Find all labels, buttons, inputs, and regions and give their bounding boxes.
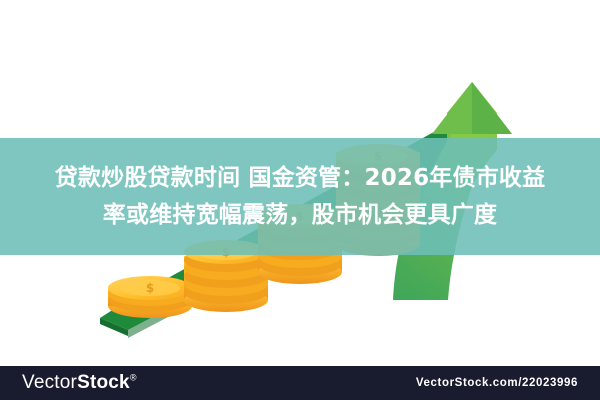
headline-block: 贷款炒股贷款时间 国金资管：2026年债市收益 率或维持宽幅震荡，股市机会更具广… bbox=[0, 138, 600, 255]
screenshot-canvas: $ $ bbox=[0, 0, 600, 400]
logo-word-vector: Vector bbox=[22, 372, 77, 393]
watermark-footer: VectorStock® VectorStock.com/22023996 bbox=[0, 366, 600, 400]
watermark-url: VectorStock.com/22023996 bbox=[416, 377, 578, 389]
headline-line-2: 率或维持宽幅震荡，股市机会更具广度 bbox=[103, 197, 497, 234]
coin-stack-1: $ bbox=[108, 276, 192, 318]
registered-trademark-icon: ® bbox=[130, 373, 137, 383]
svg-text:$: $ bbox=[146, 281, 154, 295]
headline-line-1: 贷款炒股贷款时间 国金资管：2026年债市收益 bbox=[55, 160, 546, 197]
vectorstock-logo: VectorStock® bbox=[22, 372, 137, 394]
logo-word-stock: Stock bbox=[77, 372, 130, 393]
